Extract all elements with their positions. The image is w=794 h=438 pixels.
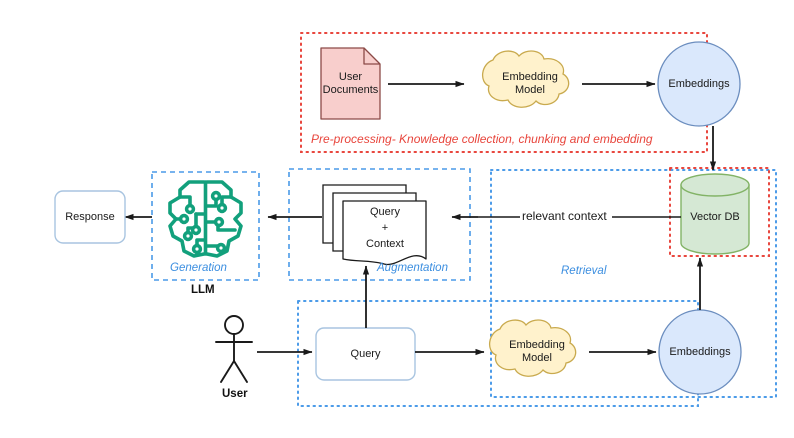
relevant-context-label: relevant context bbox=[522, 209, 607, 223]
query-context-stacked-documents-icon bbox=[323, 185, 426, 265]
embedding-model-bottom-cloud-icon bbox=[490, 320, 576, 376]
vector-db-cylinder-icon bbox=[681, 174, 749, 254]
zone-generation-label: Generation bbox=[170, 262, 227, 274]
user-documents-icon bbox=[321, 48, 380, 119]
rag-architecture-diagram: User Documents Embedding Model Embedding… bbox=[0, 0, 794, 438]
embeddings-bottom-circle-icon bbox=[659, 310, 741, 394]
llm-brain-icon bbox=[170, 182, 241, 256]
zone-augmentation-label: Augmentation bbox=[377, 262, 448, 274]
embedding-model-top-cloud-icon bbox=[483, 51, 569, 107]
llm-label: LLM bbox=[191, 284, 215, 296]
query-box bbox=[316, 328, 415, 380]
embeddings-top-circle-icon bbox=[658, 42, 740, 126]
zone-preprocessing-label: Pre-processing- Knowledge collection, ch… bbox=[311, 132, 653, 146]
user-label: User bbox=[222, 388, 248, 400]
zone-retrieval-label: Retrieval bbox=[561, 265, 606, 277]
user-stick-figure-icon bbox=[216, 316, 252, 382]
diagram-vector-layer bbox=[0, 0, 794, 438]
response-box bbox=[55, 191, 125, 243]
